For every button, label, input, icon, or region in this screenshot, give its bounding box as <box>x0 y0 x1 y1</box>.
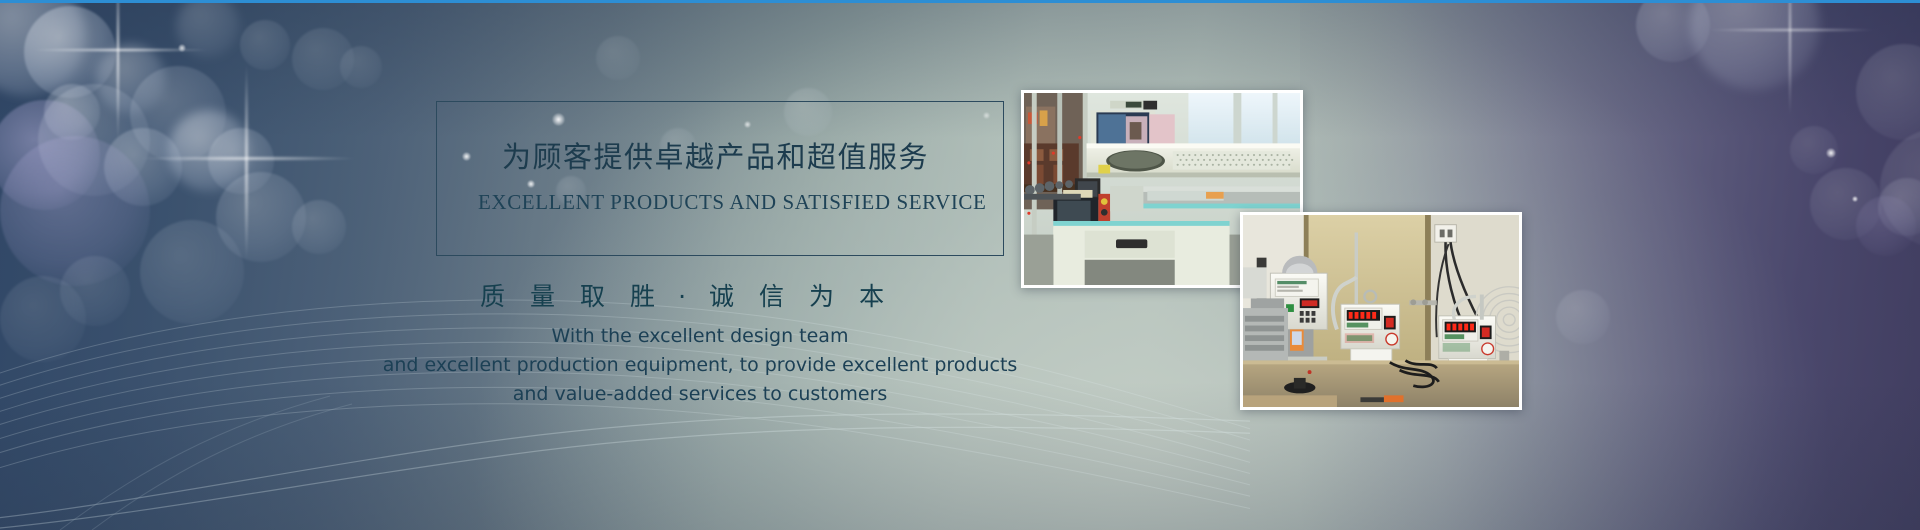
description-line: and excellent production equipment, to p… <box>330 351 1070 380</box>
slogan-char: 诚 <box>697 277 747 313</box>
workshop-machines-photo-image <box>1243 215 1519 407</box>
headline-chinese: 为顾客提供卓越产品和超值服务 <box>502 134 929 176</box>
description-paragraph: With the excellent design team and excel… <box>330 322 1070 409</box>
slogan-char: 信 <box>747 277 797 313</box>
slogan-char: 量 <box>518 277 568 313</box>
top-accent-rule <box>0 0 1920 3</box>
slogan-char: 质 <box>468 277 518 313</box>
slogan-line: 质量取胜·诚信为本 <box>468 277 897 313</box>
slogan-char: 本 <box>847 277 897 313</box>
company-slogan-banner: 为顾客提供卓越产品和超值服务 EXCELLENT PRODUCTS AND SA… <box>0 0 1920 530</box>
description-line: With the excellent design team <box>330 322 1070 351</box>
slogan-separator-dot: · <box>668 282 697 311</box>
slogan-char: 取 <box>568 277 618 313</box>
headline-frame <box>436 101 1004 256</box>
description-line: and value-added services to customers <box>330 380 1070 409</box>
workshop-machines-photo[interactable] <box>1240 212 1522 410</box>
slogan-char: 胜 <box>618 277 668 313</box>
bokeh-overlay <box>0 0 1920 530</box>
headline-english: EXCELLENT PRODUCTS AND SATISFIED SERVICE <box>478 190 986 215</box>
slogan-char: 为 <box>797 277 847 313</box>
